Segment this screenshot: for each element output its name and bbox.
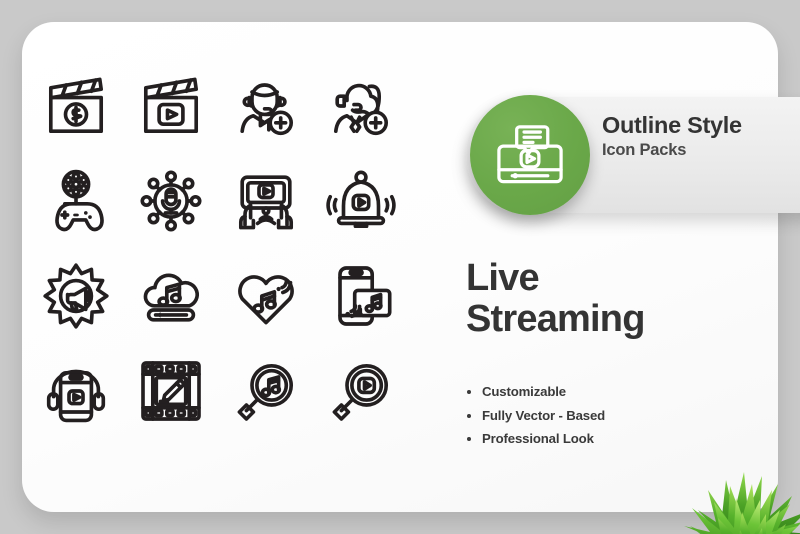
list-item: Fully Vector - Based — [466, 408, 605, 423]
badge-subtitle: Icon Packs — [602, 141, 792, 160]
icon-cell-search-play[interactable] — [313, 343, 408, 438]
icon-cell-support-agent-male-add[interactable] — [218, 58, 313, 153]
film-strip-edit-icon — [136, 356, 206, 426]
feature-list: Customizable Fully Vector - Based Profes… — [466, 384, 605, 455]
icon-cell-megaphone-burst[interactable] — [28, 248, 123, 343]
icon-cell-hands-tablet-play[interactable] — [218, 153, 313, 248]
badge-title: Outline Style — [602, 113, 792, 138]
hands-tablet-play-icon — [231, 166, 301, 236]
poster-canvas: Outline Style Icon Packs Live Streaming … — [0, 0, 800, 534]
icon-cell-clapperboard-dollar[interactable] — [28, 58, 123, 153]
smartphone-music-message-icon — [326, 261, 396, 331]
badge-icon-circle — [470, 95, 590, 215]
icon-cell-heart-music-signal[interactable] — [218, 248, 313, 343]
badge-text-block: Outline Style Icon Packs — [602, 113, 792, 160]
heart-music-signal-icon — [231, 261, 301, 331]
notification-bell-play-icon — [326, 166, 396, 236]
icon-grid — [28, 58, 408, 458]
video-player-monitor-icon — [493, 118, 567, 192]
icon-cell-smartphone-music-message[interactable] — [313, 248, 408, 343]
search-music-icon — [231, 356, 301, 426]
clapperboard-dollar-icon — [41, 71, 111, 141]
icon-cell-cloud-music-slider[interactable] — [123, 248, 218, 343]
list-item: Customizable — [466, 384, 605, 399]
support-agent-male-add-icon — [231, 71, 301, 141]
list-item: Professional Look — [466, 431, 605, 446]
page-title: Live Streaming — [466, 258, 645, 339]
icon-cell-support-agent-female-add[interactable] — [313, 58, 408, 153]
gamepad-film-reel-icon — [41, 166, 111, 236]
icon-cell-smartphone-headphones-play[interactable] — [28, 343, 123, 438]
podcast-microphone-network-icon — [136, 166, 206, 236]
clapperboard-play-icon — [136, 71, 206, 141]
support-agent-female-add-icon — [326, 71, 396, 141]
icon-cell-film-strip-edit[interactable] — [123, 343, 218, 438]
cloud-music-slider-icon — [136, 261, 206, 331]
headline-line-1: Live — [466, 258, 645, 299]
icon-cell-notification-bell-play[interactable] — [313, 153, 408, 248]
megaphone-burst-icon — [41, 261, 111, 331]
icon-cell-gamepad-film-reel[interactable] — [28, 153, 123, 248]
search-play-icon — [326, 356, 396, 426]
smartphone-headphones-play-icon — [41, 356, 111, 426]
icon-cell-clapperboard-play[interactable] — [123, 58, 218, 153]
headline-line-2: Streaming — [466, 299, 645, 340]
icon-cell-podcast-microphone-network[interactable] — [123, 153, 218, 248]
icon-cell-search-music[interactable] — [218, 343, 313, 438]
